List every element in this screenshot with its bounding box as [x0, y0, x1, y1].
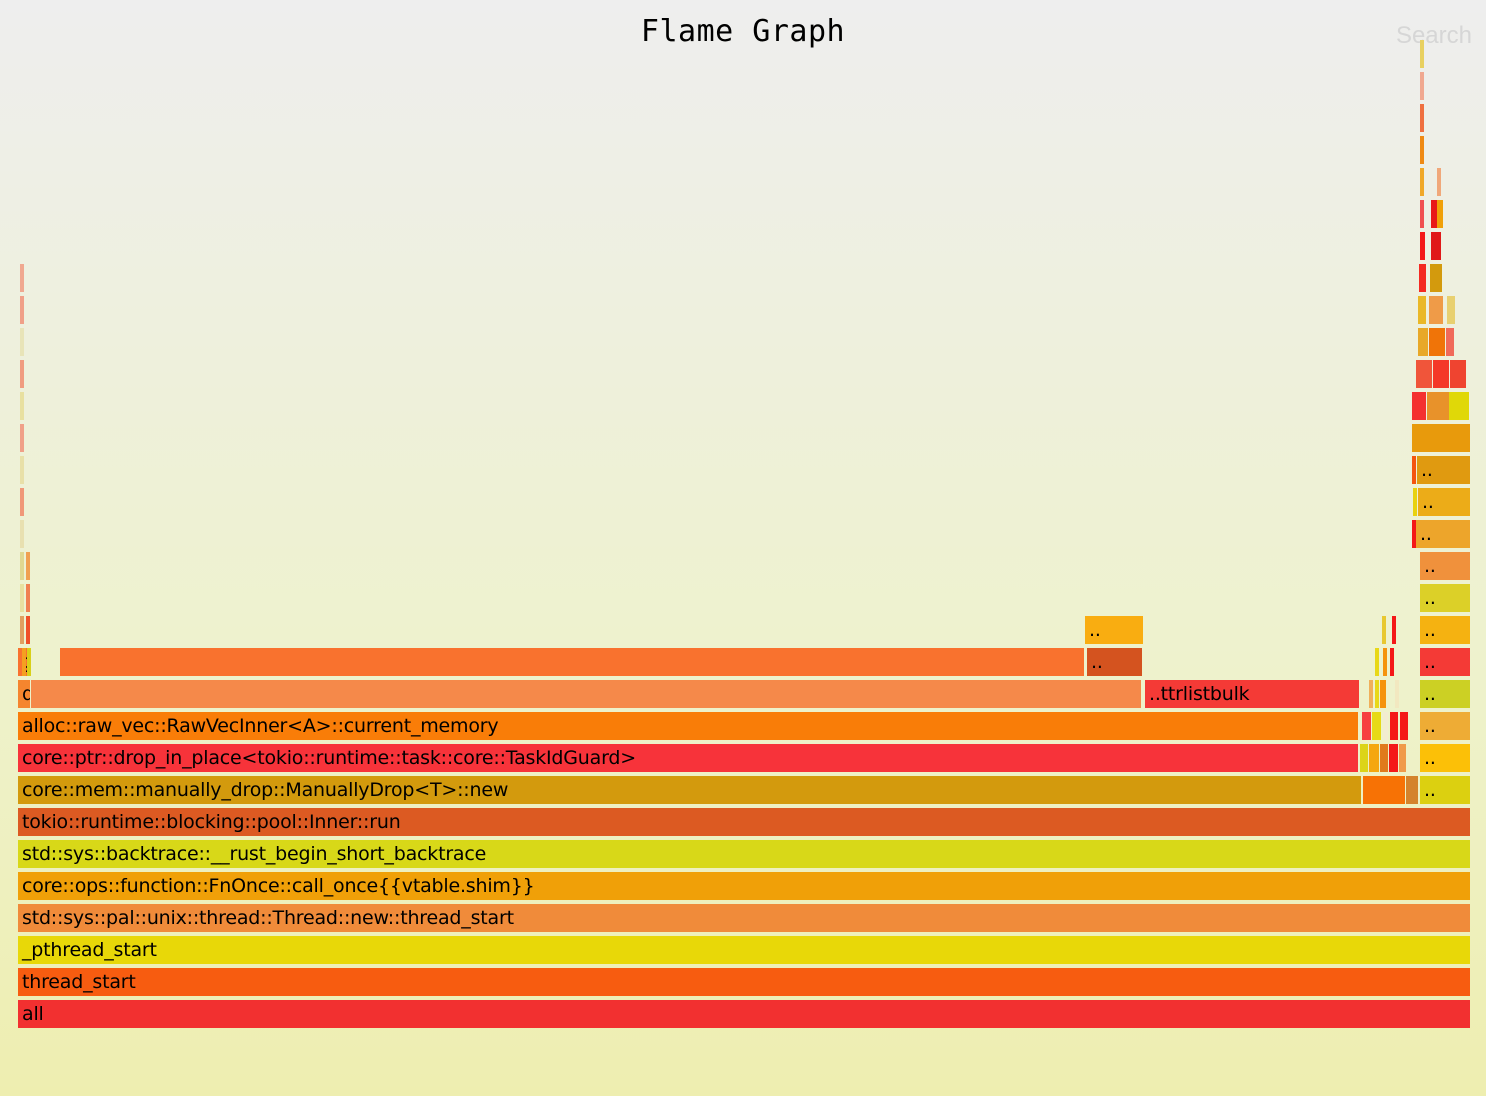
- flame-frame-label: ..: [1424, 619, 1436, 641]
- flame-frame[interactable]: [60, 648, 1084, 676]
- flame-frame[interactable]: [1420, 104, 1424, 132]
- flame-frame[interactable]: [1433, 360, 1449, 388]
- flame-frame[interactable]: [1446, 328, 1454, 356]
- flame-frame[interactable]: ..: [1420, 552, 1470, 580]
- flame-frame[interactable]: [26, 616, 30, 644]
- flame-frame[interactable]: [1375, 680, 1379, 708]
- flame-frame[interactable]: ..: [1420, 584, 1470, 612]
- flame-frame[interactable]: [1431, 232, 1441, 260]
- flame-frame[interactable]: [1380, 744, 1388, 772]
- flame-frame[interactable]: core::ops::function::FnOnce::call_once{{…: [18, 872, 1470, 900]
- flame-frame[interactable]: [1383, 712, 1388, 740]
- flame-frame[interactable]: ..: [1085, 616, 1143, 644]
- flame-frame[interactable]: core::mem::manually_drop::ManuallyDrop<T…: [18, 776, 1361, 804]
- flame-frame[interactable]: ..: [1417, 456, 1470, 484]
- flame-frame[interactable]: [1400, 712, 1408, 740]
- flame-frame-label: dumac::get_dir_info: [22, 683, 30, 705]
- flame-frame[interactable]: thread_start: [18, 968, 1470, 996]
- flame-frame[interactable]: [1437, 168, 1441, 196]
- flame-frame[interactable]: [1380, 680, 1386, 708]
- flame-frame[interactable]: ..: [1418, 488, 1470, 516]
- flame-frame-label: thread_start: [22, 971, 136, 993]
- flame-frame[interactable]: [22, 648, 26, 676]
- flame-frame[interactable]: [1420, 168, 1424, 196]
- flame-frame-label: all: [22, 1003, 44, 1025]
- flame-frame[interactable]: std::sys::pal::unix::thread::Thread::new…: [18, 904, 1470, 932]
- flame-frame[interactable]: [20, 456, 24, 484]
- flame-graph-canvas: allthread_start_pthread_startstd::sys::p…: [0, 0, 1486, 1096]
- flame-frame[interactable]: [20, 552, 24, 580]
- flame-frame[interactable]: [1420, 200, 1424, 228]
- flame-frame[interactable]: [1418, 296, 1426, 324]
- flame-frame-label: core::ops::function::FnOnce::call_once{{…: [22, 875, 535, 897]
- flame-frame[interactable]: [20, 360, 24, 388]
- flame-frame-label: ..: [1424, 683, 1436, 705]
- flame-frame[interactable]: ..: [1087, 648, 1142, 676]
- flame-frame[interactable]: [1390, 712, 1398, 740]
- flame-frame[interactable]: ..: [1420, 616, 1470, 644]
- flame-frame[interactable]: [20, 392, 24, 420]
- flame-frame[interactable]: [1416, 360, 1432, 388]
- flame-graph-page: Flame Graph Search allthread_start_pthre…: [0, 0, 1486, 1096]
- flame-frame[interactable]: [1412, 520, 1416, 548]
- flame-frame[interactable]: [1420, 136, 1424, 164]
- flame-frame[interactable]: [1363, 776, 1405, 804]
- flame-frame[interactable]: [31, 680, 1141, 708]
- flame-frame[interactable]: [1375, 648, 1379, 676]
- flame-frame[interactable]: [1389, 744, 1398, 772]
- flame-frame[interactable]: _pthread_start: [18, 936, 1470, 964]
- flame-frame[interactable]: [1412, 392, 1426, 420]
- flame-frame[interactable]: [1419, 264, 1426, 292]
- flame-frame[interactable]: [1406, 776, 1418, 804]
- flame-frame-label: ..: [1089, 619, 1101, 641]
- flame-frame-label: ..: [1424, 555, 1436, 577]
- flame-frame[interactable]: [20, 520, 24, 548]
- flame-frame-label: _pthread_start: [22, 939, 157, 961]
- flame-frame[interactable]: [1399, 744, 1406, 772]
- flame-frame[interactable]: [20, 296, 24, 324]
- flame-frame[interactable]: [1395, 680, 1399, 708]
- flame-frame[interactable]: [1360, 744, 1368, 772]
- flame-frame[interactable]: [1449, 392, 1469, 420]
- flame-frame[interactable]: ..: [1420, 712, 1470, 740]
- flame-frame[interactable]: ..: [1420, 744, 1470, 772]
- flame-frame[interactable]: [26, 552, 30, 580]
- flame-frame[interactable]: [1420, 232, 1425, 260]
- flame-frame[interactable]: [20, 584, 24, 612]
- flame-frame[interactable]: [1382, 616, 1386, 644]
- flame-frame-label: ..: [1424, 587, 1436, 609]
- flame-frame-label: core::mem::manually_drop::ManuallyDrop<T…: [22, 779, 508, 801]
- flame-frame[interactable]: [20, 424, 24, 452]
- flame-frame[interactable]: [26, 584, 30, 612]
- flame-frame[interactable]: ..: [1420, 776, 1470, 804]
- flame-frame[interactable]: [1412, 424, 1470, 452]
- flame-frame-label: std::sys::backtrace::__rust_begin_short_…: [22, 843, 486, 865]
- flame-frame[interactable]: all: [18, 1000, 1470, 1028]
- flame-frame-label: tokio::runtime::blocking::pool::Inner::r…: [22, 811, 401, 833]
- flame-frame-label: ..: [1420, 523, 1432, 545]
- flame-frame-label: ..: [1424, 747, 1436, 769]
- flame-frame[interactable]: [20, 264, 24, 292]
- flame-frame[interactable]: [1420, 40, 1424, 68]
- flame-frame[interactable]: [27, 648, 31, 676]
- flame-frame[interactable]: [20, 616, 24, 644]
- flame-frame[interactable]: ..: [1420, 648, 1470, 676]
- flame-frame[interactable]: [1418, 328, 1428, 356]
- flame-frame[interactable]: ..: [1416, 520, 1470, 548]
- flame-frame[interactable]: std::sys::backtrace::__rust_begin_short_…: [18, 840, 1470, 868]
- flame-frame[interactable]: [1369, 744, 1379, 772]
- flame-frame[interactable]: ..ttrlistbulk: [1145, 680, 1359, 708]
- flame-frame-label: ..ttrlistbulk: [1149, 683, 1249, 705]
- flame-frame[interactable]: [1383, 648, 1387, 676]
- flame-frame[interactable]: [1437, 200, 1443, 228]
- flame-frame-label: ..: [1091, 651, 1103, 673]
- flame-frame[interactable]: ..: [1420, 680, 1470, 708]
- flame-frame[interactable]: alloc::raw_vec::RawVecInner<A>::current_…: [18, 712, 1358, 740]
- flame-frame[interactable]: tokio::runtime::blocking::pool::Inner::r…: [18, 808, 1470, 836]
- flame-frame[interactable]: [1427, 392, 1449, 420]
- flame-frame[interactable]: core::ptr::drop_in_place<tokio::runtime:…: [18, 744, 1358, 772]
- flame-frame[interactable]: [1429, 328, 1445, 356]
- flame-frame[interactable]: [1369, 680, 1373, 708]
- flame-frame[interactable]: [1429, 296, 1443, 324]
- flame-frame-label: ..: [1421, 459, 1433, 481]
- flame-frame[interactable]: [1362, 712, 1371, 740]
- flame-frame[interactable]: [20, 488, 24, 516]
- flame-frame[interactable]: [1450, 360, 1466, 388]
- flame-frame-label: ..: [1424, 715, 1436, 737]
- flame-frame[interactable]: [1372, 712, 1381, 740]
- flame-frame[interactable]: [20, 328, 24, 356]
- flame-frame[interactable]: [1390, 648, 1394, 676]
- flame-frame[interactable]: dumac::get_dir_info: [18, 680, 30, 708]
- flame-frame-label: ..: [1424, 651, 1436, 673]
- flame-frame-label: ..: [1424, 779, 1436, 801]
- flame-frame-label: std::sys::pal::unix::thread::Thread::new…: [22, 907, 514, 929]
- flame-frame[interactable]: [1412, 456, 1416, 484]
- flame-frame[interactable]: [1420, 72, 1424, 100]
- flame-frame[interactable]: [1413, 488, 1417, 516]
- flame-frame-label: ..: [1422, 491, 1434, 513]
- flame-frame[interactable]: [1392, 616, 1396, 644]
- flame-frame-label: alloc::raw_vec::RawVecInner<A>::current_…: [22, 715, 498, 737]
- flame-frame-label: core::ptr::drop_in_place<tokio::runtime:…: [22, 747, 636, 769]
- flame-frame[interactable]: [1447, 296, 1455, 324]
- flame-frame[interactable]: [1430, 264, 1442, 292]
